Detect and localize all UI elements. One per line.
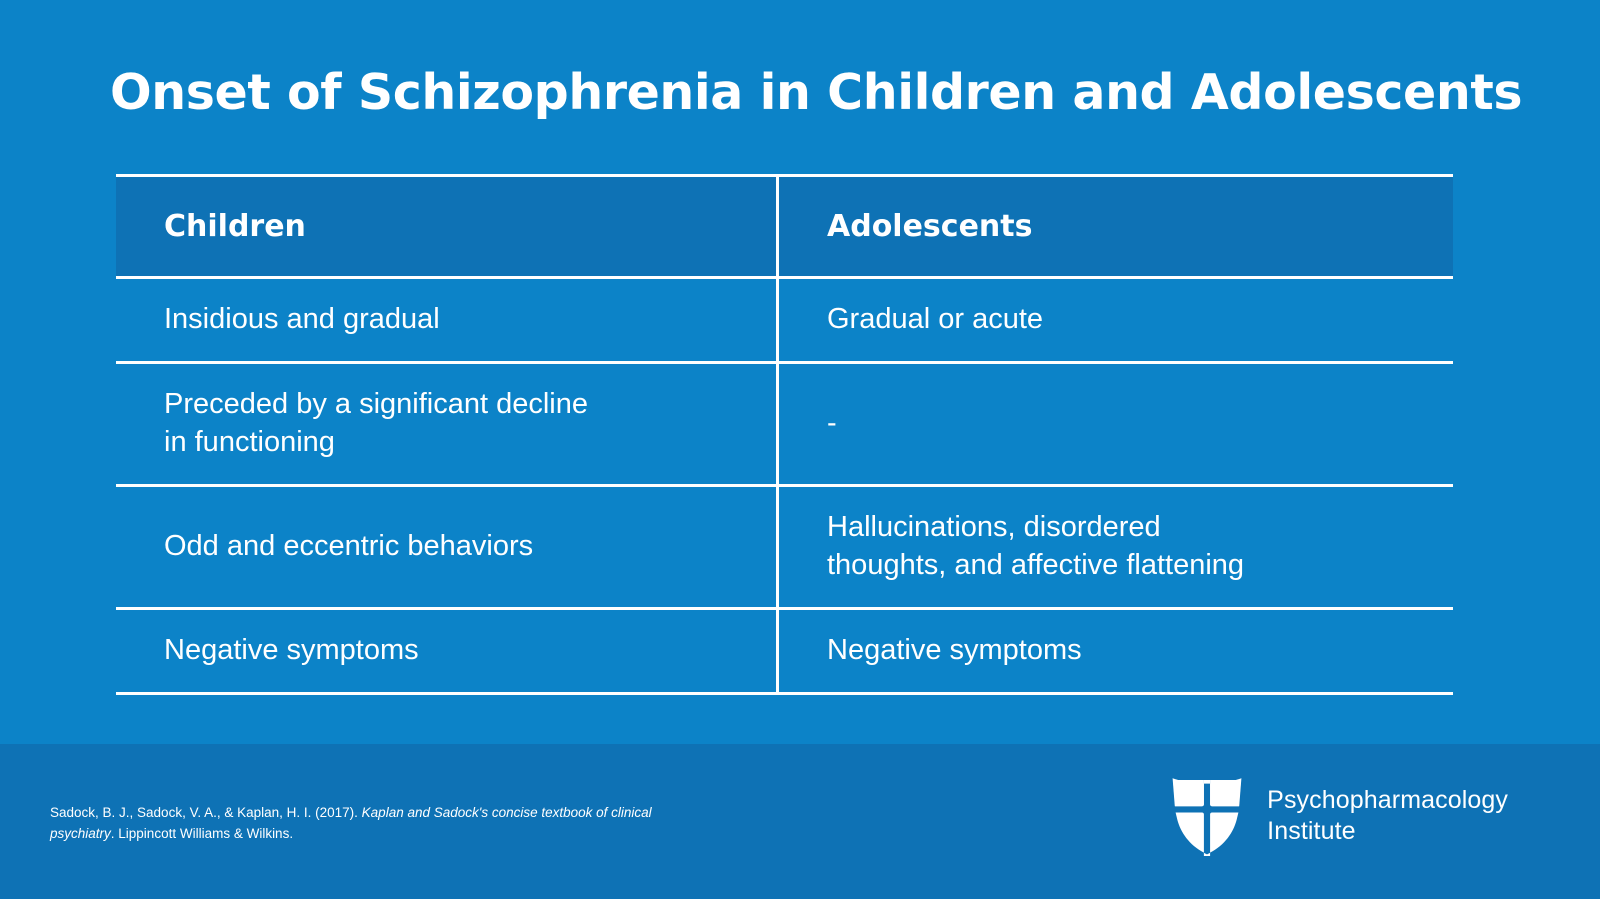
column-header-adolescents-label: Adolescents [827, 207, 1032, 246]
cell-adolescents-text: Gradual or acute [827, 301, 1043, 339]
cell-children-text: Negative symptoms [164, 632, 419, 670]
cell-children-text: Preceded by a significant decline in fun… [164, 386, 588, 462]
cell-children: Negative symptoms [116, 610, 779, 692]
table-row: Odd and eccentric behaviors Hallucinatio… [116, 487, 1453, 610]
cell-children: Insidious and gradual [116, 279, 779, 361]
column-header-adolescents: Adolescents [779, 177, 1453, 276]
slide: Onset of Schizophrenia in Children and A… [0, 0, 1600, 899]
cell-children-text: Odd and eccentric behaviors [164, 528, 533, 566]
cell-adolescents-text: Negative symptoms [827, 632, 1082, 670]
citation-authors-year: Sadock, B. J., Sadock, V. A., & Kaplan, … [50, 805, 362, 820]
table-row: Insidious and gradual Gradual or acute [116, 279, 1453, 364]
column-header-children: Children [116, 177, 779, 276]
citation: Sadock, B. J., Sadock, V. A., & Kaplan, … [50, 803, 690, 844]
cell-adolescents: - [779, 364, 1453, 484]
cell-children-text: Insidious and gradual [164, 301, 440, 339]
table-row: Negative symptoms Negative symptoms [116, 610, 1453, 695]
cell-adolescents: Negative symptoms [779, 610, 1453, 692]
page-title: Onset of Schizophrenia in Children and A… [110, 66, 1510, 121]
cell-adolescents: Hallucinations, disordered thoughts, and… [779, 487, 1453, 607]
cell-children: Preceded by a significant decline in fun… [116, 364, 779, 484]
brand-lockup: Psychopharmacology Institute [1169, 776, 1508, 856]
footer-band: Sadock, B. J., Sadock, V. A., & Kaplan, … [0, 744, 1600, 899]
column-header-children-label: Children [164, 207, 306, 246]
cell-adolescents-text: Hallucinations, disordered thoughts, and… [827, 509, 1244, 585]
onset-comparison-table: Children Adolescents Insidious and gradu… [116, 174, 1453, 695]
brand-name: Psychopharmacology Institute [1267, 785, 1508, 848]
table-header-row: Children Adolescents [116, 177, 1453, 279]
cell-children: Odd and eccentric behaviors [116, 487, 779, 607]
citation-publisher: . Lippincott Williams & Wilkins. [111, 826, 293, 841]
cell-adolescents-text: - [827, 405, 837, 443]
cell-adolescents: Gradual or acute [779, 279, 1453, 361]
shield-quadrant-logo-icon [1169, 776, 1245, 856]
table-row: Preceded by a significant decline in fun… [116, 364, 1453, 487]
